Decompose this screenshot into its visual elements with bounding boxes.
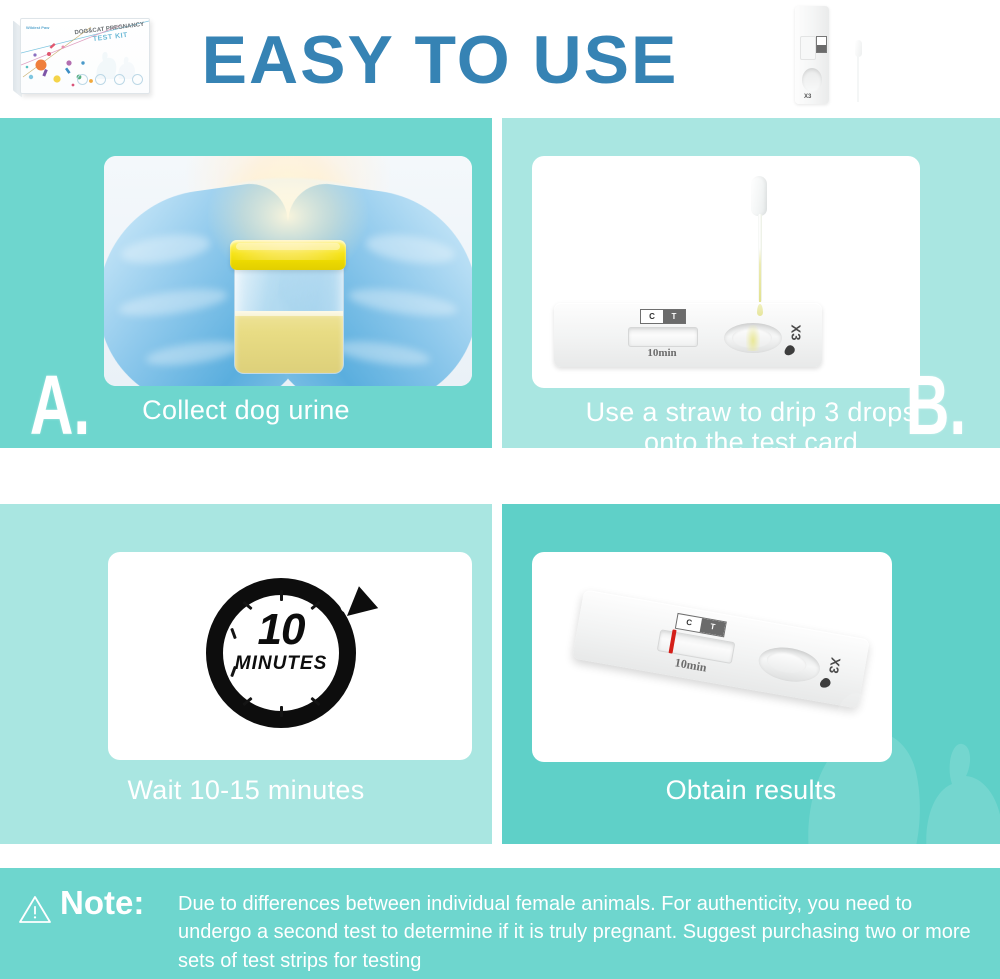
header-sample-well	[802, 68, 822, 92]
urine-liquid	[235, 311, 343, 373]
test-card-b: C T 10min X3	[554, 303, 822, 367]
clock-tick-12	[280, 590, 283, 601]
tilted-card-wrapper: C T 10min X3	[572, 589, 870, 708]
test-marker-d: T	[700, 618, 726, 636]
header-drops-label: X3	[804, 94, 811, 100]
droplet-icon-b	[782, 343, 796, 357]
feature-icon-1	[77, 74, 88, 85]
clock-tick-6	[280, 706, 283, 717]
specimen-cup	[230, 232, 346, 372]
cup-yellow-lid	[230, 240, 346, 270]
test-marker-b: T	[663, 310, 685, 323]
test-card-d: C T 10min X3	[572, 589, 870, 708]
header-pipette	[853, 40, 863, 102]
result-window-b	[628, 327, 698, 347]
step-panel-c: C. 10 MINUTES Wait 10-15 minutes	[0, 504, 492, 844]
clock-number: 10	[200, 608, 362, 652]
drops-count-label-d: X3	[826, 656, 844, 674]
step-d-caption: Obtain results	[502, 776, 1000, 806]
cup-body	[234, 256, 344, 374]
ct-marker-bar-b: C T	[640, 309, 686, 324]
box-feature-icons	[77, 71, 143, 87]
step-c-caption: Wait 10-15 minutes	[0, 776, 492, 806]
pipette-dropper	[748, 176, 770, 306]
page-title: EASY TO USE	[160, 12, 720, 107]
step-a-photo-card	[104, 156, 472, 386]
header-result-window	[800, 36, 816, 60]
clock-text: 10 MINUTES	[200, 608, 362, 673]
note-text: Due to differences between individual fe…	[178, 890, 986, 975]
clock-icon: 10 MINUTES	[200, 570, 380, 742]
step-d-illustration-card: C T 10min X3	[532, 552, 892, 762]
feature-icon-2	[95, 74, 106, 85]
feature-icon-3	[114, 74, 125, 85]
droplet-icon-d	[818, 676, 832, 689]
sample-splash	[746, 325, 760, 351]
header-device-image: X3	[795, 2, 915, 112]
urine-collection-photo	[104, 156, 472, 386]
pipette-bulb	[751, 176, 767, 216]
header-pipette-stem	[857, 56, 859, 102]
step-b-caption: Use a straw to drip 3 drops onto the tes…	[502, 398, 1000, 448]
header-ct-bar	[816, 36, 827, 53]
step-panel-a: A.	[0, 118, 492, 448]
step-panel-d: D. C T 10min X3 Obta	[502, 504, 1000, 844]
note-label: Note:	[60, 886, 144, 919]
control-marker-d: C	[676, 614, 702, 632]
step-panel-b: B. C T 10min X3 Use a s	[502, 118, 1000, 448]
time-label-b: 10min	[628, 347, 696, 359]
box-brand-label: Wildest Paw	[26, 25, 49, 30]
header: Wildest Paw DOG&CAT PREGNANCY TEST KIT E…	[0, 0, 1000, 118]
step-c-illustration-card: 10 MINUTES	[108, 552, 472, 760]
drops-count-label-b: X3	[788, 325, 803, 341]
header-test-card: X3	[795, 6, 829, 104]
clock-unit: MINUTES	[200, 654, 362, 673]
control-marker-b: C	[641, 310, 663, 323]
sample-well-d	[756, 643, 823, 686]
step-b-illustration-card: C T 10min X3	[532, 156, 920, 388]
step-b-caption-line2: onto the test card	[644, 427, 858, 448]
product-box-image: Wildest Paw DOG&CAT PREGNANCY TEST KIT	[20, 12, 160, 104]
box-front-panel: Wildest Paw DOG&CAT PREGNANCY TEST KIT	[20, 18, 150, 94]
step-a-caption: Collect dog urine	[0, 396, 492, 426]
falling-drop-icon	[757, 304, 763, 316]
header-pipette-bulb	[855, 40, 862, 57]
step-b-caption-line1: Use a straw to drip 3 drops	[586, 397, 917, 427]
note-bar: Note: Due to differences between individ…	[0, 868, 1000, 979]
warning-triangle-icon	[18, 894, 52, 924]
feature-icon-4	[132, 74, 143, 85]
infographic-page: Wildest Paw DOG&CAT PREGNANCY TEST KIT E…	[0, 0, 1000, 979]
pipette-liquid	[759, 248, 761, 302]
